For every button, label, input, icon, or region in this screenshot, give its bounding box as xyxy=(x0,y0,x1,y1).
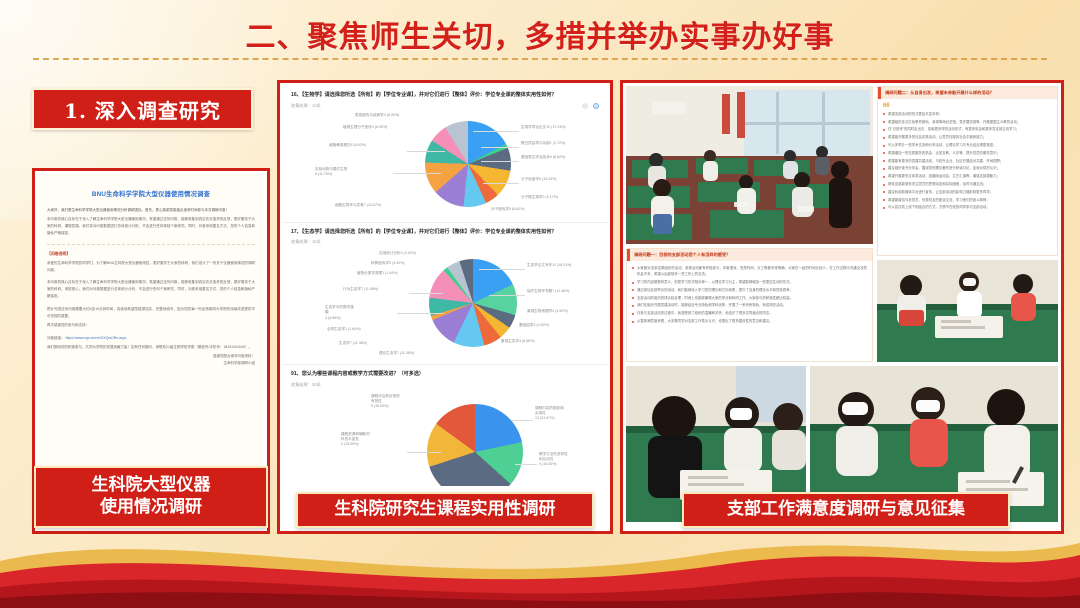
pie-16-label-0: 生物学导论论文10 (17.24%) xyxy=(521,125,566,130)
table-view-icon[interactable] xyxy=(582,103,588,109)
list-item: 可以多举办一些学术交流和分享活动，让理论学习与专业结合得更紧密； xyxy=(883,142,1052,148)
pie-17-label-5: 理论生态学7 (11.48%) xyxy=(379,351,414,356)
list-item: 希望开展更多文体类活动，如趣味运动会、文艺汇演等，增强支部凝聚力； xyxy=(883,173,1052,179)
survey-body-4: 再次感谢您的参与和支持！ xyxy=(47,322,255,329)
question-16-meta: 收集结果：13条 xyxy=(291,103,599,109)
pie-16-label-2: 基因表达学及技术5 (8.62%) xyxy=(521,155,565,160)
survey-link-url[interactable]: https://www.wjx.cn/vm/OXQwORn.aspx xyxy=(65,336,126,340)
question-91-count: 收集结果：26条 xyxy=(291,382,321,388)
pie-16-leader-3 xyxy=(483,183,519,184)
pie-91-label-3: 课程资源和辅助材料的丰富性9 (15.00%) xyxy=(341,432,370,448)
pie-17-label-12: 应用统计分析3 (4.92%) xyxy=(379,251,416,256)
pie-17-label-4: 景观生态学4 (6.56%) xyxy=(501,339,535,344)
chart-view-icon[interactable] xyxy=(593,103,599,109)
caption-middle: 生科院研究生课程实用性调研 xyxy=(296,492,594,528)
question-91-title: 91、您认为哪些课程内容或教学方式需要改进？（可多选） xyxy=(291,371,599,379)
page-title-wrap: 二、聚焦师生关切，多措并举办实事办好事 xyxy=(0,12,1080,56)
list-item: 希望能增加与老党员、优秀校友的座谈交流，学习他们的奋斗精神； xyxy=(883,197,1052,203)
quote-mark-icon: 66 xyxy=(883,103,1052,109)
pie-17-label-9: 行为生态学7 (11.48%) xyxy=(343,287,378,292)
section-label-chip: 1. 深入调查研究 xyxy=(32,88,253,130)
survey-notice-tag: 【问卷说明】 xyxy=(47,251,255,257)
pie-91-leader-0 xyxy=(511,420,533,421)
list-item: 我们在组织开展党建活动时，能够结合专业特色和学科优势，开展了一系列有特色、有成效… xyxy=(632,302,867,308)
pie-17-label-6: 生态学7 (11.48%) xyxy=(339,341,367,346)
photo-classroom-discussion xyxy=(626,86,873,244)
list-item: 支部活动的组织安排比较合理，时间上也能够兼顾大家的学业和科研工作，大家参与的积极… xyxy=(632,295,867,301)
list-item: 从整体满意度来看，大多数同学对支部工作表示认可，也提出了很多建设性的意见和建议。 xyxy=(632,318,867,324)
list-item: 建议组织读书分享会，围绕党的理论著作进行研读讨论，加深对党的认识； xyxy=(883,165,1052,171)
pie-17-label-11: 种群遗传学3 (4.92%) xyxy=(371,261,405,266)
note-question-one: 调研问题一：目前的支部活动您个人有怎样的感受？ 大家都对支部定期组织的活动、参观… xyxy=(626,248,873,362)
pie-17-label-10: 植物分类学原理1 (1.64%) xyxy=(357,271,398,276)
pie-16-label-7: 实验动物与模式生物6 (11.79%) xyxy=(315,167,347,177)
note-question-one-list: 大家都对支部定期组织的活动、参观活动都有积极参与，印象很深，但是时间、分工等都非… xyxy=(632,265,867,324)
list-item: 希望能开展更多的社会实践活动，让党员在服务社会中锻炼能力； xyxy=(883,134,1052,140)
question-17-number: 17、 xyxy=(291,229,302,235)
survey-link-label: 问卷链接： xyxy=(47,336,65,340)
question-16-count: 收集结果：13条 xyxy=(291,103,321,109)
pie-16-graphic xyxy=(425,121,511,207)
list-item: 希望支部活动的形式更加丰富多样； xyxy=(883,111,1052,117)
photo-interview-pair xyxy=(877,260,1058,362)
question-17-count-label: 收集结果： xyxy=(291,239,312,244)
question-16-count-label: 收集结果： xyxy=(291,103,312,108)
pie-17-label-0: 生态学论文写作11 (18.03%) xyxy=(527,263,571,268)
pie-16-label-10: 表观遗传与疾病学4 (6.90%) xyxy=(355,113,399,118)
pie-16-label-9: 植物生理分子遗传4 (6.90%) xyxy=(343,125,387,130)
survey-signature: 感谢您配合填写问卷资料！ 生命科学部调研小组 xyxy=(47,353,255,367)
list-item: 通过参加支部举办的活动，我们能够深入学习党的理论和方针政策，提升了自身的理论水平… xyxy=(632,287,867,293)
survey-block-notice: 【问卷说明】 亲爱的生命科学学院的同学们，为了解BNU生科院大型仪器使用性，更好… xyxy=(47,251,255,274)
survey-body-3: 预计完成这份问卷需要大约5至10分钟时间，真诚地希望您能够如实、完整地填写，因为… xyxy=(47,306,255,320)
title-divider xyxy=(33,58,1047,60)
list-item: 可以尝试线上线下相结合的方式，方便不在校的同学参与支部活动。 xyxy=(883,204,1052,210)
question-91-meta: 收集结果：26条 xyxy=(291,382,599,388)
question-block-91: 91、您认为哪些课程内容或教学方式需要改进？（可多选） 收集结果：26条 xyxy=(283,365,607,390)
survey-signature-line-2: 生命科学部调研小组 xyxy=(47,360,255,367)
pie-16-label-5: 分子遗传学5 (8.62%) xyxy=(491,207,525,212)
pie-17-leader-9 xyxy=(409,293,443,294)
list-item: 建议利用新媒体平台进行宣传，让支部活动的影响力辐射到更多同学； xyxy=(883,189,1052,195)
pie-16-leader-7 xyxy=(393,173,441,174)
pie-17-graphic xyxy=(429,259,517,347)
list-item: 学习的内容都很有意义，但是学习形式相对单一，以理论学习为主，希望能够增加一些更加… xyxy=(632,279,867,285)
survey-body-5: 我们期待您的积极参与，共同为学院的发展贡献力量！如有任何疑问，请联系21级生物学… xyxy=(47,344,255,351)
question-16-icon-group[interactable] xyxy=(582,103,599,109)
page-title: 二、聚焦师生关切，多措并举办实事办好事 xyxy=(0,12,1080,56)
question-16-title: 16、【生物学】请选择您所选【所有】的【学位专业课】，并对它们进行【整体】评价：… xyxy=(291,92,599,100)
survey-document-title: BNU生命科学学院大型仪器使用情况调查 xyxy=(47,189,255,198)
pie-chart-91: 课程内容的更新和实用性13 (21.67%) 教学方法的多样性和互动性9 (15… xyxy=(283,390,607,486)
survey-block-duration: 预计完成这份问卷需要大约5至10分钟时间，真诚地希望您能够如实、完整地填写，因为… xyxy=(47,306,255,329)
question-17-meta: 收集结果：15条 xyxy=(291,239,599,245)
pie-91-label-4: 课程评估和反馈的有效性9 (15.00%) xyxy=(371,394,400,410)
survey-para-1: 本问卷的核心目标在于深入了解生命科学学院大型仪器使用情况，有望通过这份问卷，能够… xyxy=(47,216,255,236)
question-block-16: 16、【生物学】请选择您所选【所有】的【学位专业课】，并对它们进行【整体】评价：… xyxy=(283,86,607,111)
pie-17-label-8: 生态学中的数学建模4 (6.56%) xyxy=(325,305,354,321)
pie-17-label-7: 全球生态学1 (1.64%) xyxy=(327,327,361,332)
note-question-two: 调研问题二：从自身出发，希望未来能开展什么样的活动？ 66 希望支部活动的形式更… xyxy=(877,86,1058,256)
question-17-title: 17、【生态学】请选择您所选【所有】的【学位专业课】，并对它们进行【整体】评价：… xyxy=(291,229,599,237)
pie-chart-16: 生物学导论论文10 (17.24%) 蛋白质结构与功能1 (1.72%) 基因表… xyxy=(283,111,607,217)
caption-right: 支部工作满意度调研与意见征集 xyxy=(682,492,1010,528)
pie-16-leader-8 xyxy=(407,151,445,152)
list-item: 在"引进来"的同时走出去，探索更多样的活动形式，有更多机会和更多党支部交流学习； xyxy=(883,126,1052,132)
note-question-two-list: 希望支部活动的形式更加丰富多样； 希望组织走访红色教育基地，参观革命纪念馆、党史… xyxy=(883,111,1052,211)
survey-intro: 大家好，我们是生命科学学院大型仪器使用情况分析调研团队。首先，衷心感谢您能抽出宝… xyxy=(47,207,255,214)
question-17-count: 收集结果：15条 xyxy=(291,239,321,245)
question-17-count-value: 15条 xyxy=(312,239,321,244)
caption-left: 生科院大型仪器 使用情况调研 xyxy=(34,466,268,528)
note-question-two-body: 66 希望支部活动的形式更加丰富多样； 希望组织走访红色教育基地，参观革命纪念馆… xyxy=(878,99,1057,216)
note-question-one-body: 大家都对支部定期组织的活动、参观活动都有积极参与，印象很深，但是时间、分工等都非… xyxy=(627,261,872,330)
pie-16-label-6: 细胞生物学与发育7 (12.07%) xyxy=(335,203,381,208)
survey-body-1: 亲爱的生命科学学院的同学们，为了解BNU生科院大型仪器使用性，更好服务于大家的科… xyxy=(47,260,255,274)
question-91-count-value: 26条 xyxy=(312,382,321,387)
survey-divider-1 xyxy=(47,244,255,245)
pie-16-leader-2 xyxy=(481,161,519,162)
pie-17-label-2: 景观生物地理学3 (4.92%) xyxy=(527,309,568,314)
section-label-text: 1. 深入调查研究 xyxy=(64,95,221,124)
caption-middle-text: 生科院研究生课程实用性调研 xyxy=(335,499,556,521)
pie-chart-17: 生态学论文写作11 (18.03%) 保护生物学专题7 (11.48%) 景观生… xyxy=(283,247,607,359)
survey-results-card: 16、【生物学】请选择您所选【所有】的【学位专业课】，并对它们进行【整体】评价：… xyxy=(283,86,607,486)
pie-16-leader-1 xyxy=(481,147,519,148)
caption-right-text: 支部工作满意度调研与意见征集 xyxy=(727,499,965,521)
question-91-number: 91、 xyxy=(291,371,302,377)
pie-16-label-3: 分子免疫学6 (10.34%) xyxy=(521,177,557,182)
survey-link-row: 问卷链接： https://www.wjx.cn/vm/OXQwORn.aspx xyxy=(47,335,255,342)
note-question-one-header: 调研问题一：目前的支部活动您个人有怎样的感受？ xyxy=(627,249,872,261)
pie-91-graphic xyxy=(427,404,523,486)
pie-17-leader-0 xyxy=(479,269,525,270)
pie-17-leader-1 xyxy=(489,295,525,296)
list-item: 在参与支部活动的过程中，我感受到了组织的温暖和关怀，也结识了很多志同道合的同志。 xyxy=(632,310,867,316)
list-item: 期待支部能够多关注党员的思想动态和实际困难，及时沟通交流； xyxy=(883,181,1052,187)
right-collage: 调研问题二：从自身出发，希望未来能开展什么样的活动？ 66 希望支部活动的形式更… xyxy=(626,86,1058,528)
note-question-two-header: 调研问题二：从自身出发，希望未来能开展什么样的活动？ xyxy=(878,87,1057,99)
pie-91-label-0: 课程内容的更新和实用性13 (21.67%) xyxy=(535,406,564,422)
list-item: 希望增加一些志愿服务的机会，比如支教、义诊等，提升党员的服务意识； xyxy=(883,150,1052,156)
pie-16-leader-0 xyxy=(473,131,519,132)
question-17-text: 【生态学】请选择您所选【所有】的【学位专业课】，并对它们进行【整体】评价：学位专… xyxy=(302,229,557,235)
pie-17-label-1: 保护生物学专题7 (11.48%) xyxy=(527,289,569,294)
pie-17-label-3: 基因组学3 (4.92%) xyxy=(519,323,549,328)
list-item: 希望能有更多的党建共建活动，与校外企业、社区开展结对共建，开阔视野； xyxy=(883,158,1052,164)
question-block-17: 17、【生态学】请选择您所选【所有】的【学位专业课】，并对它们进行【整体】评价：… xyxy=(283,223,607,248)
caption-left-line-1: 生科院大型仪器 xyxy=(92,475,211,497)
survey-block-purpose: 本问卷的核心目标在于深入了解生命科学学院大型仪器使用情况，希望通过这份问卷，能够… xyxy=(47,279,255,299)
question-16-text: 【生物学】请选择您所选【所有】的【学位专业课】，并对它们进行【整体】评价：学位专… xyxy=(302,92,557,98)
question-16-count-value: 13条 xyxy=(312,103,321,108)
pie-16-label-8: 细胞骨架蛋白5 (8.62%) xyxy=(329,143,366,148)
question-91-text: 您认为哪些课程内容或教学方式需要改进？（可多选） xyxy=(302,371,424,377)
question-91-count-label: 收集结果： xyxy=(291,382,312,387)
pie-17-leader-8 xyxy=(397,313,443,314)
list-item: 希望组织走访红色教育基地，参观革命纪念馆、党史展览馆等，开展爱国主义教育活动； xyxy=(883,119,1052,125)
pie-91-label-1: 教学方法的多样性和互动性9 (15.00%) xyxy=(539,452,568,468)
pie-16-label-1: 蛋白质结构与功能1 (1.72%) xyxy=(521,141,565,146)
caption-left-line-2: 使用情况调研 xyxy=(100,497,202,519)
survey-signature-line-1: 感谢您配合填写问卷资料！ xyxy=(47,353,255,360)
pie-91-leader-3 xyxy=(407,452,441,453)
pie-91-leader-1 xyxy=(515,464,537,465)
question-16-number: 16、 xyxy=(291,92,302,98)
list-item: 大家都对支部定期组织的活动、参观活动都有积极参与，印象很深，但是时间、分工等都非… xyxy=(632,265,867,278)
survey-body-2: 本问卷的核心目标在于深入了解生命科学学院大型仪器使用情况，希望通过这份问卷，能够… xyxy=(47,279,255,299)
pie-16-label-4: 分子微生物学3 (5.17%) xyxy=(521,195,558,200)
